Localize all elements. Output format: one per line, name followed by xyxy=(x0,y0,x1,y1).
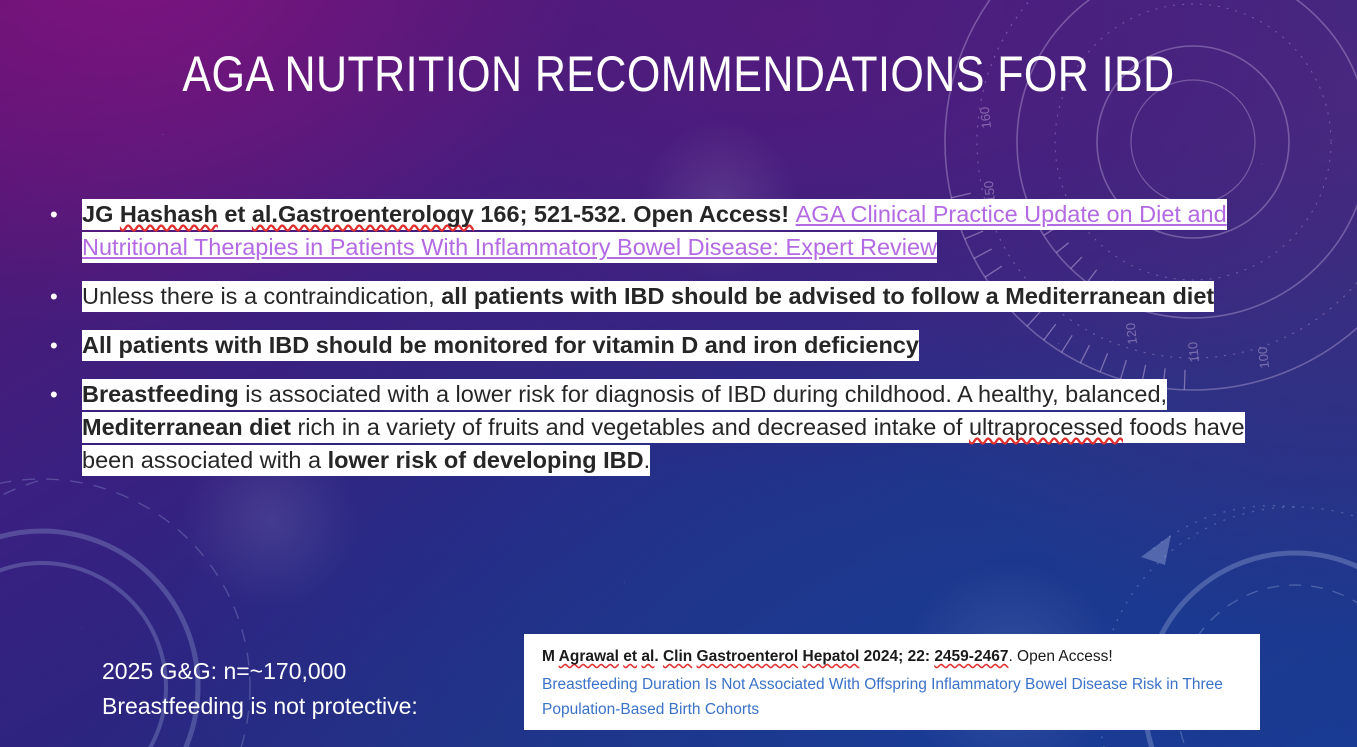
text-run: M xyxy=(542,648,559,665)
bullet-breastfeeding: •Breastfeeding is associated with a lowe… xyxy=(42,378,1282,477)
study-note-line-2: Breastfeeding is not protective: xyxy=(102,689,418,724)
bullet-text: Unless there is a contraindication, all … xyxy=(82,280,1282,313)
text-run: al.Gastroenterology xyxy=(252,199,474,230)
bullet-marker-icon: • xyxy=(50,384,58,406)
text-run: Mediterranean diet xyxy=(82,412,291,443)
bullet-text: All patients with IBD should be monitore… xyxy=(82,329,1282,362)
text-run: all patients with IBD should be advised … xyxy=(441,281,1214,312)
bullet-vitamin-d-iron: •All patients with IBD should be monitor… xyxy=(42,329,1282,362)
text-run: Hashash xyxy=(120,199,218,230)
text-run: 2024; 22: xyxy=(859,648,934,665)
text-run: Gastroenterol xyxy=(697,648,799,665)
text-run: JG xyxy=(82,199,120,230)
study-note-line-1: 2025 G&G: n=~170,000 xyxy=(102,654,418,689)
text-run: Clin xyxy=(663,648,692,665)
text-run: ultraprocessed xyxy=(969,412,1123,443)
study-note: 2025 G&G: n=~170,000 Breastfeeding is no… xyxy=(102,654,418,724)
bullet-marker-icon: • xyxy=(50,335,58,357)
text-run: et xyxy=(623,648,637,665)
text-run: is associated with a lower risk for diag… xyxy=(239,379,1167,410)
text-run: . Open Access! xyxy=(1008,648,1112,665)
bullet-mediterranean-diet: •Unless there is a contraindication, all… xyxy=(42,280,1282,313)
text-run: rich in a variety of fruits and vegetabl… xyxy=(291,412,969,443)
text-run: Agrawal xyxy=(559,648,619,665)
page-title: AGA NUTRITION RECOMMENDATIONS FOR IBD xyxy=(95,48,1262,101)
bullet-marker-icon: • xyxy=(50,204,58,226)
bullet-text: JG Hashash et al.Gastroenterology 166; 5… xyxy=(82,198,1282,264)
text-run: 166; 521-532. Open Access! xyxy=(474,199,796,230)
text-run: et xyxy=(218,199,252,230)
text-run: . xyxy=(644,445,651,476)
citation-reference: M Agrawal et al. Clin Gastroenterol Hepa… xyxy=(542,646,1244,667)
text-run: Unless there is a contraindication, xyxy=(82,281,441,312)
bullet-marker-icon: • xyxy=(50,286,58,308)
arrow-head-icon xyxy=(1141,535,1171,565)
dial-label-160: 160 xyxy=(977,106,994,129)
text-run: Hepatol xyxy=(803,648,860,665)
text-run: All patients with IBD should be monitore… xyxy=(82,330,919,361)
bullet-citation-hashash: •JG Hashash et al.Gastroenterology 166; … xyxy=(42,198,1282,264)
text-run: 2459-2467 xyxy=(934,648,1008,665)
bullet-text: Breastfeeding is associated with a lower… xyxy=(82,378,1282,477)
slide-canvas: 180 160 150 120 110 100 AGA NUTRITION RE… xyxy=(0,0,1357,747)
text-run: . xyxy=(654,648,663,665)
text-run: Breastfeeding xyxy=(82,379,239,410)
citation-article-title-link[interactable]: Breastfeeding Duration Is Not Associated… xyxy=(542,672,1244,722)
citation-box: M Agrawal et al. Clin Gastroenterol Hepa… xyxy=(524,634,1260,730)
text-run: al xyxy=(641,648,654,665)
text-run: lower risk of developing IBD xyxy=(328,445,644,476)
bullet-list: •JG Hashash et al.Gastroenterology 166; … xyxy=(42,198,1282,493)
